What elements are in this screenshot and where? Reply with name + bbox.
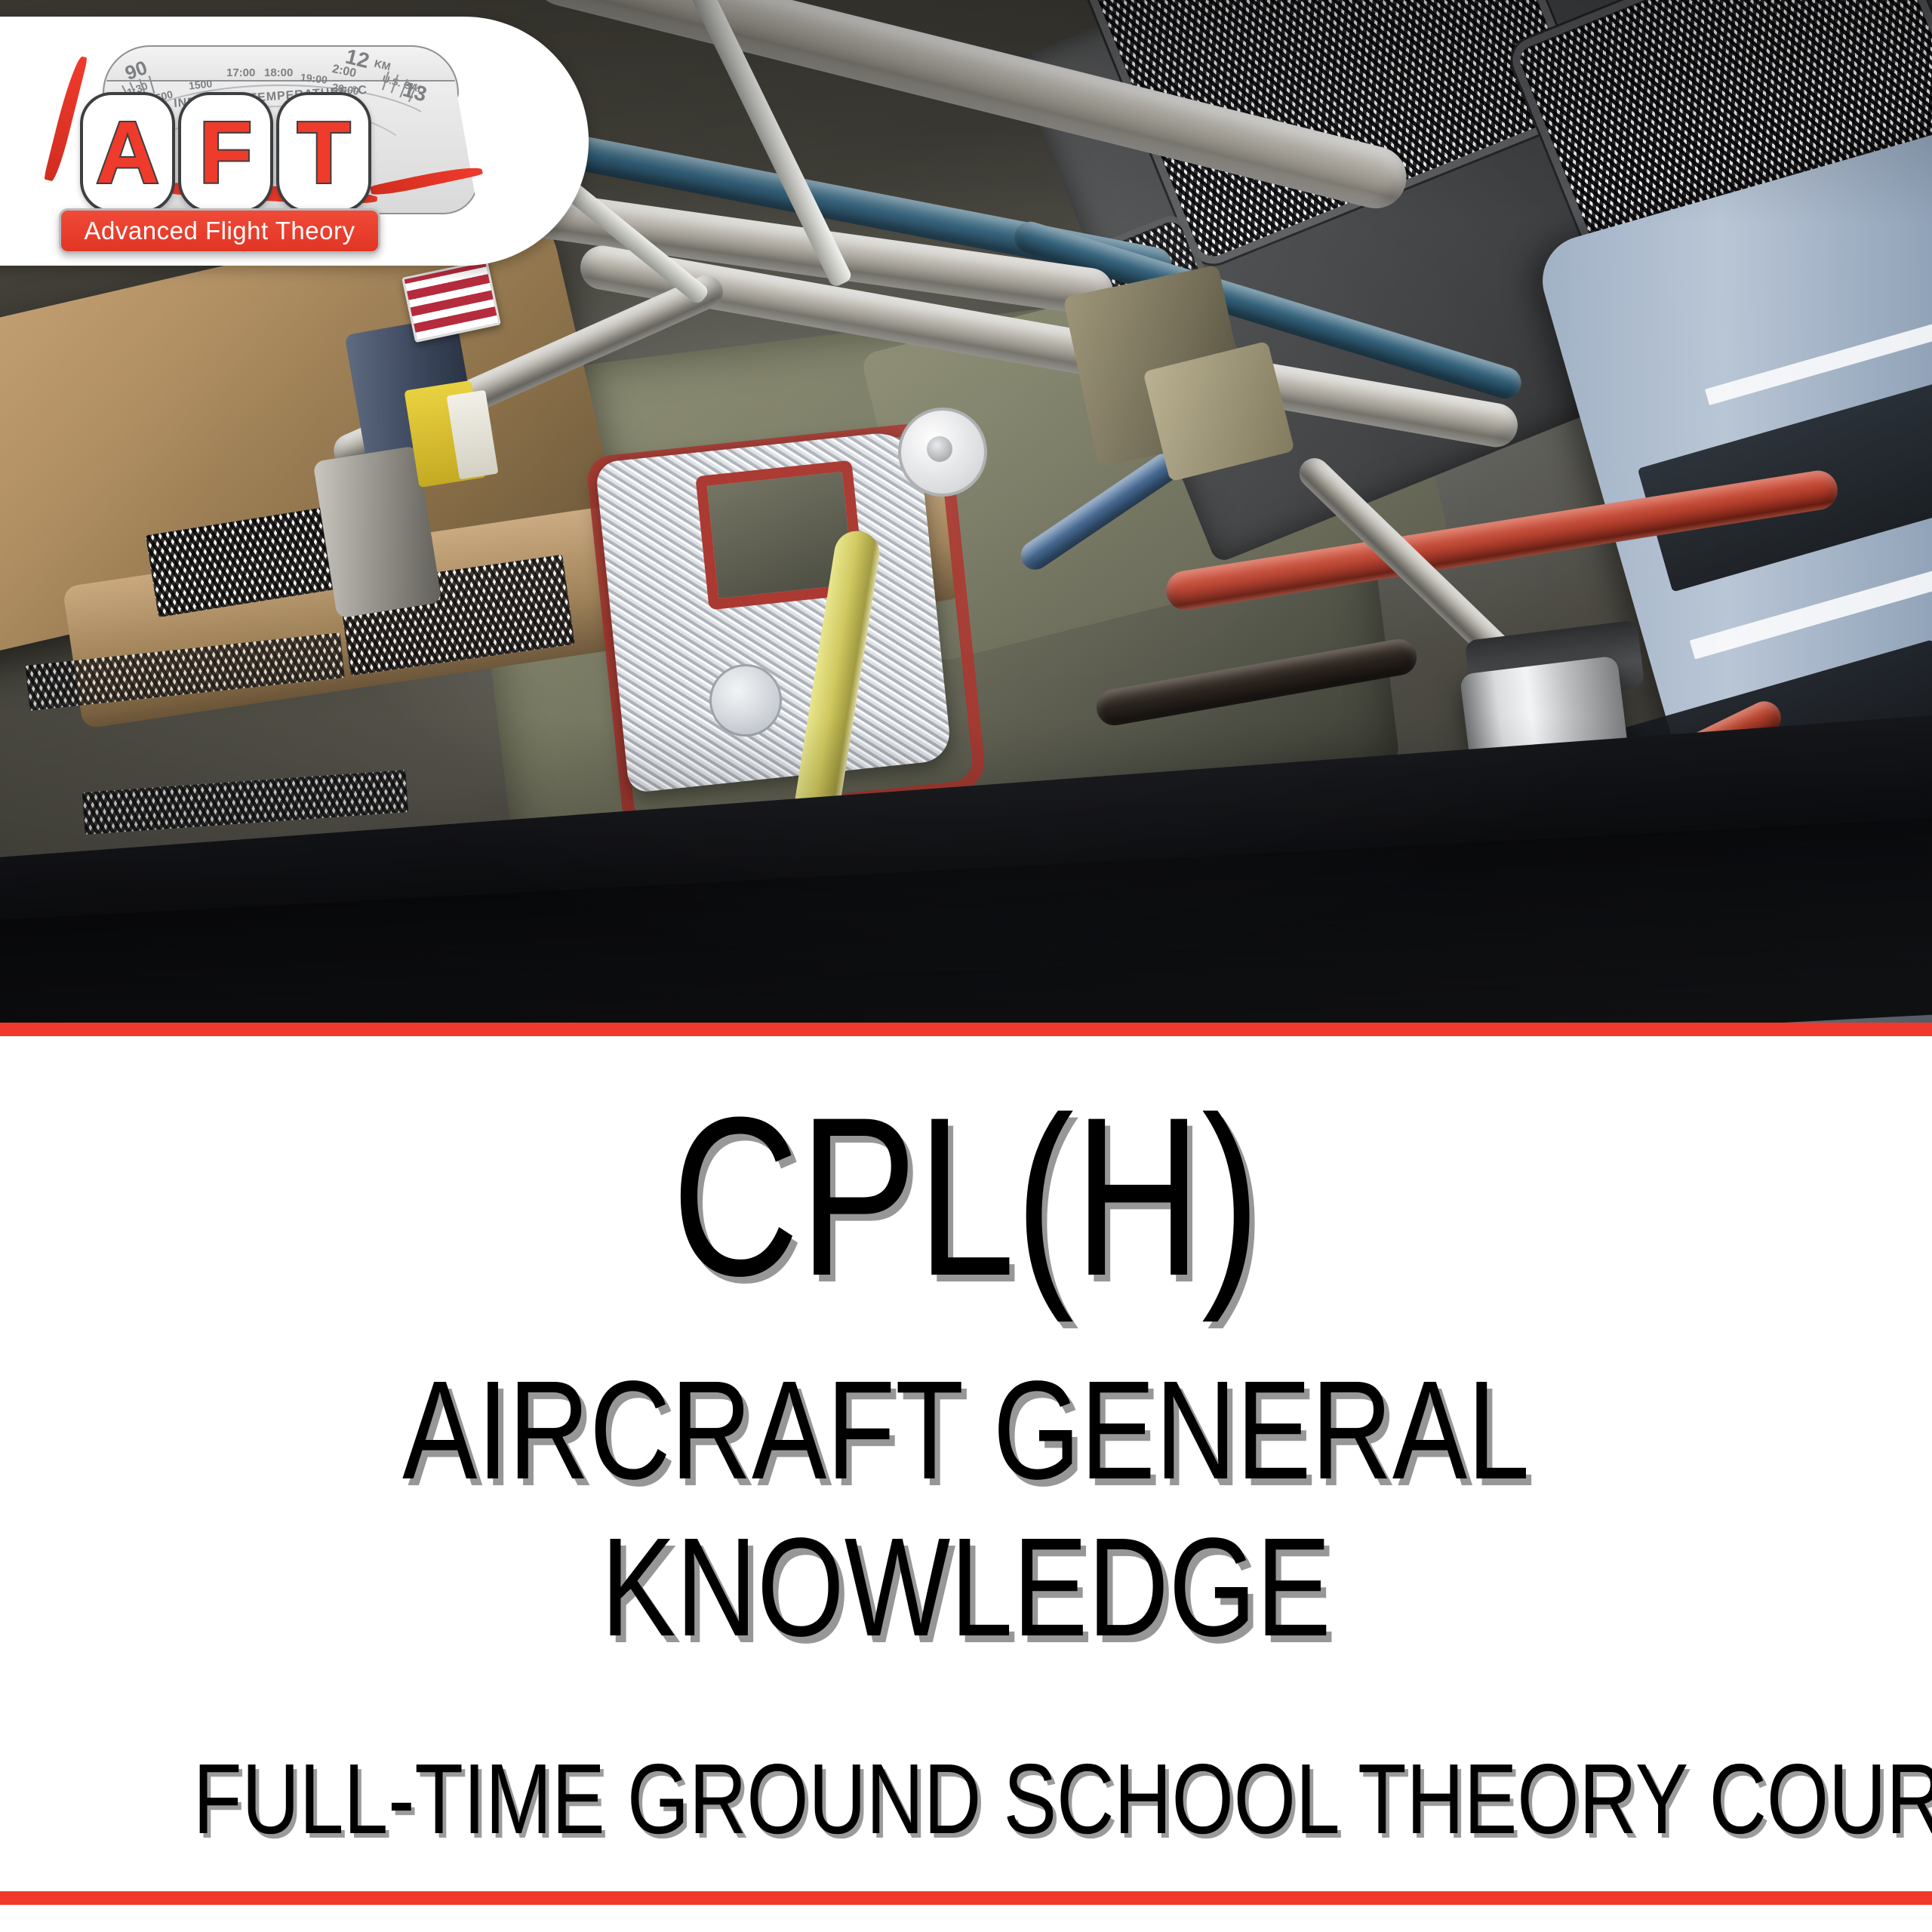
white-cap-center bbox=[927, 436, 952, 462]
aft-logo-inner: 90 1:30 1600 1500 17:00 18:00 19:00 20:0… bbox=[45, 27, 513, 254]
divider-rule-top bbox=[0, 1023, 1932, 1036]
fc-label-1800: 18:00 bbox=[264, 66, 293, 79]
logo-letter-t: T bbox=[297, 109, 351, 196]
subject-line-2: KNOWLEDGE bbox=[193, 1518, 1739, 1658]
logo-tile-a: A bbox=[80, 92, 175, 213]
course-type-subtitle: FULL-TIME GROUND SCHOOL THEORY COURSE bbox=[193, 1749, 1739, 1849]
logo-banner: Advanced Flight Theory bbox=[59, 208, 380, 254]
page-title: CPL(H) bbox=[213, 1083, 1720, 1309]
fc-label-1700: 17:00 bbox=[226, 66, 255, 79]
course-poster: 90 1:30 1600 1500 17:00 18:00 19:00 20:0… bbox=[0, 0, 1932, 1932]
logo-letter-a: A bbox=[96, 109, 159, 196]
logo-banner-text: Advanced Flight Theory bbox=[85, 217, 355, 245]
fc-label-1500: 1500 bbox=[188, 77, 213, 91]
logo-letter-f: F bbox=[199, 109, 253, 196]
heat-shield-disc bbox=[709, 664, 782, 737]
logo-tile-f: F bbox=[178, 92, 273, 213]
logo-tile-t: T bbox=[276, 92, 371, 213]
divider-rule-bottom bbox=[0, 1891, 1932, 1905]
course-text-block: CPL(H) AIRCRAFT GENERAL KNOWLEDGE FULL-T… bbox=[0, 1036, 1932, 1891]
aft-logo-badge[interactable]: 90 1:30 1600 1500 17:00 18:00 19:00 20:0… bbox=[0, 17, 589, 266]
subject-line-1: AIRCRAFT GENERAL bbox=[193, 1361, 1739, 1501]
